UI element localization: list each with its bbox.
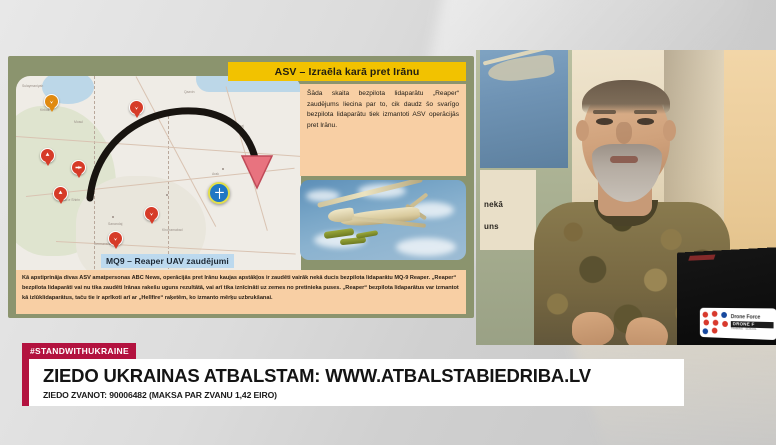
speaker-mouth [610,156,638,163]
interview-video-feed: nekā uns [476,50,776,345]
sticker-subtitle: TRAINING · SCHOOL [731,329,774,333]
drone-force-sticker: Drone Force DRONE F TRAINING · SCHOOL [700,308,776,340]
banner-body: ZIEDO UKRAINAS ATBALSTAM: WWW.ATBALSTABI… [22,359,684,406]
backdrop-text-line-2: uns [484,222,499,231]
speaker-eye-left [596,118,613,125]
banner-headline: ZIEDO UKRAINAS ATBALSTAM: WWW.ATBALSTABI… [43,366,591,385]
drone-down-icon [47,97,56,106]
logo-dot [703,328,709,334]
hellfire-missile-3 [356,230,379,239]
backdrop-drone-poster [480,50,568,168]
logo-dot [712,311,718,317]
logo-dot [712,328,718,334]
laptop[interactable]: Drone Force DRONE F TRAINING · SCHOOL [677,247,776,345]
cloud [396,238,456,256]
sticker-dot-logo [703,311,729,335]
explosion-icon [56,189,65,198]
map-flow-arrow [86,94,276,224]
speaker-brow-right [634,110,657,114]
slide-content: Sulaymaniyah Kirkuk Mosul Sanandaj Kerma… [16,62,466,314]
map-city-label: Khorramabad [162,228,183,232]
map-city-label: Mosul [74,120,83,124]
logo-dot [722,321,728,327]
slide-caption: Kā apstiprināja divas ASV amatpersonas A… [16,270,466,314]
banner-bottom-edge [22,402,684,405]
news-slide-panel: Sulaymaniyah Kirkuk Mosul Sanandaj Kerma… [8,56,474,318]
map-pin-drone-loss-3[interactable] [71,160,86,175]
lower-third-banner: #STANDWITHUKRAINE ZIEDO UKRAINAS ATBALST… [22,341,684,406]
map-pin-drone-loss-2[interactable] [40,148,55,163]
sticker-text-block: Drone Force DRONE F TRAINING · SCHOOL [729,315,774,333]
logo-dot [704,320,710,326]
map-city-label: Sulaymaniyah [22,84,43,88]
drone-down-icon [111,234,120,243]
banner-subline: ZIEDO ZVANOT: 90006482 (MAKSA PAR ZVANU … [43,390,591,400]
logo-dot [721,312,727,318]
slide-title: ASV – Izraēla karā pret Irānu [228,62,466,81]
logo-dot [713,320,719,326]
laptop-lid-decal [688,255,715,261]
backdrop-text-line-1: nekā [484,200,503,209]
explosion-icon [43,151,52,160]
sticker-title: Drone Force [731,315,774,321]
speaker-nose [616,122,632,144]
map-pin-drone-loss-1[interactable] [44,94,59,109]
map-pin-drone-loss-4[interactable] [53,186,68,201]
slide-body-text: Šāda skaita bezpilota lidaparātu „Reaper… [300,84,466,176]
logo-dot [703,312,709,318]
hashtag-badge: #STANDWITHUKRAINE [22,343,136,359]
broadcast-screen: Sulaymaniyah Kirkuk Mosul Sanandaj Kerma… [0,0,776,445]
banner-text-block: ZIEDO UKRAINAS ATBALSTAM: WWW.ATBALSTABI… [29,359,591,406]
backdrop-text-panel [480,170,536,250]
speaker-brow-left [593,110,616,114]
banner-bottom-accent-tick [22,402,29,405]
speaker-ear-left [576,120,589,141]
drone-down-icon [74,163,83,172]
drone-photo [300,180,466,260]
speaker-ear-right [663,120,676,141]
speaker-eye-right [637,118,654,125]
map-graphic[interactable]: Sulaymaniyah Kirkuk Mosul Sanandaj Kerma… [16,76,301,274]
map-callout-label: MQ9 – Reaper UAV zaudējumi [101,254,234,268]
map-pin-drone-loss-7[interactable] [108,231,123,246]
